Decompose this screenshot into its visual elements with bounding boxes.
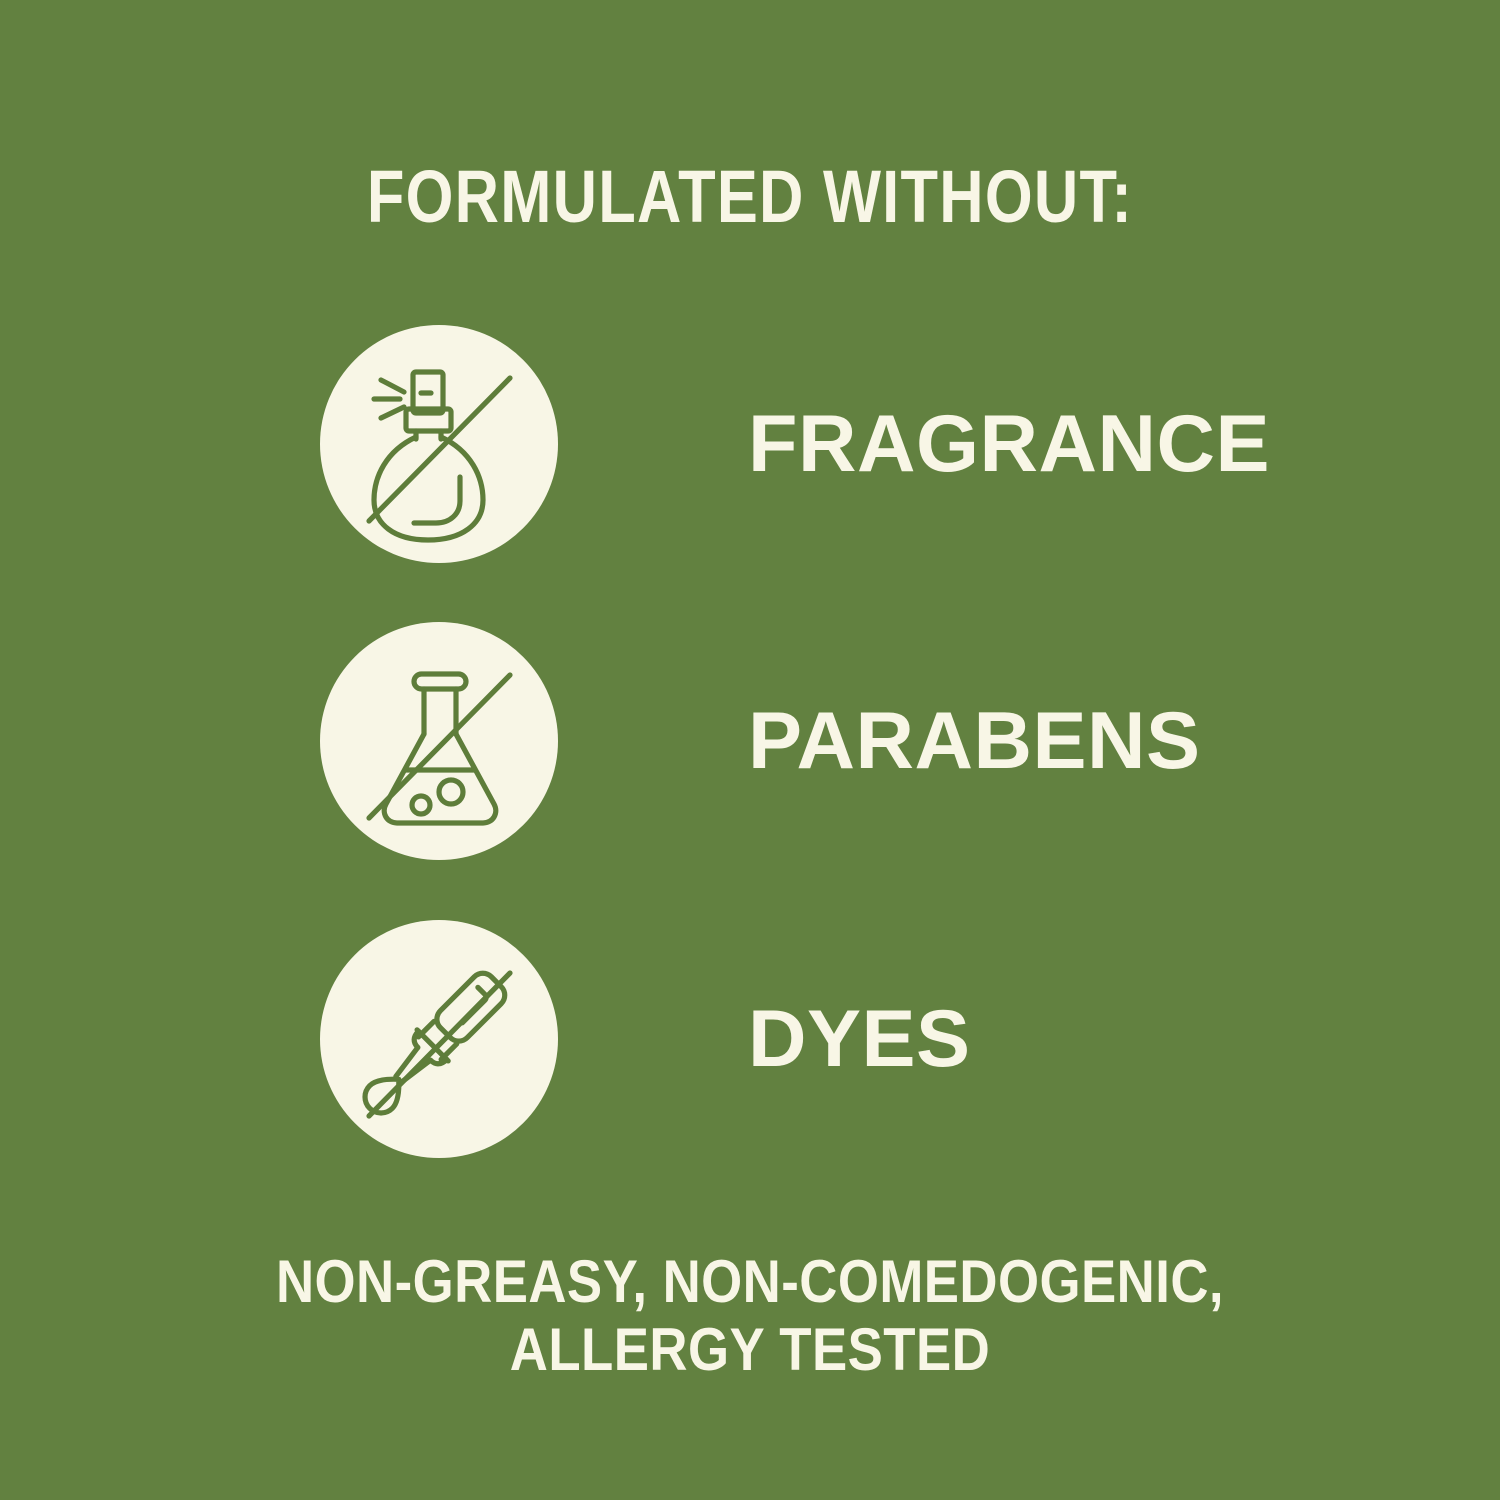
list-item-label: FRAGRANCE: [748, 325, 1270, 563]
list-item-label: DYES: [748, 920, 971, 1158]
list-item: DYES: [0, 920, 1500, 1160]
footer-line-2: ALLERGY TESTED: [90, 1316, 1410, 1384]
no-fragrance-bottle-icon: [320, 325, 558, 563]
footer-claims: NON-GREASY, NON-COMEDOGENIC, ALLERGY TES…: [90, 1248, 1410, 1384]
formulated-without-poster: FORMULATED WITHOUT:: [0, 0, 1500, 1500]
list-item-label: PARABENS: [748, 622, 1201, 860]
no-chemical-flask-icon: [320, 622, 558, 860]
list-item: FRAGRANCE: [0, 325, 1500, 565]
list-item: PARABENS: [0, 622, 1500, 862]
no-dropper-icon: [320, 920, 558, 1158]
footer-line-1: NON-GREASY, NON-COMEDOGENIC,: [90, 1248, 1410, 1316]
page-title: FORMULATED WITHOUT:: [128, 157, 1373, 237]
